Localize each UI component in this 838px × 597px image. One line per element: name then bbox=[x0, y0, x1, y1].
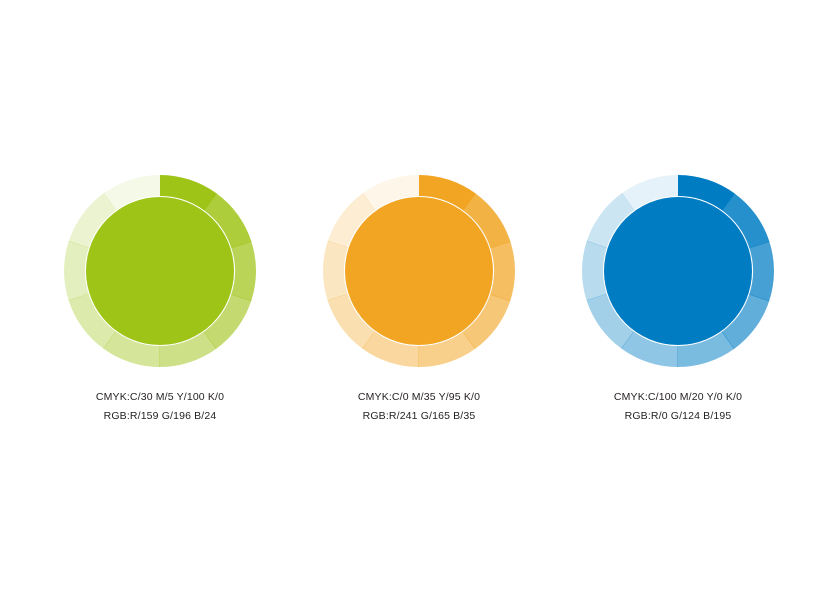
orange-rgb-value: RGB:R/241 G/165 B/35 bbox=[290, 407, 549, 426]
swatch-board: CMYK:C/30 M/5 Y/100 K/0RGB:R/159 G/196 B… bbox=[0, 0, 838, 597]
green-caption: CMYK:C/30 M/5 Y/100 K/0RGB:R/159 G/196 B… bbox=[31, 388, 290, 426]
blue-caption: CMYK:C/100 M/20 Y/0 K/0RGB:R/0 G/124 B/1… bbox=[549, 388, 808, 426]
orange-cmyk-value: CMYK:C/0 M/35 Y/95 K/0 bbox=[290, 388, 549, 407]
orange-caption: CMYK:C/0 M/35 Y/95 K/0RGB:R/241 G/165 B/… bbox=[290, 388, 549, 426]
orange-swatch: CMYK:C/0 M/35 Y/95 K/0RGB:R/241 G/165 B/… bbox=[290, 0, 549, 597]
blue-rgb-value: RGB:R/0 G/124 B/195 bbox=[549, 407, 808, 426]
blue-solid-core bbox=[604, 197, 752, 345]
blue-swatch: CMYK:C/100 M/20 Y/0 K/0RGB:R/0 G/124 B/1… bbox=[549, 0, 808, 597]
orange-ring-segment-3 bbox=[490, 241, 515, 301]
green-cmyk-value: CMYK:C/30 M/5 Y/100 K/0 bbox=[31, 388, 290, 407]
orange-solid-core bbox=[345, 197, 493, 345]
blue-ring-segment-3 bbox=[749, 241, 774, 301]
blue-color-wheel bbox=[582, 175, 774, 367]
green-swatch: CMYK:C/30 M/5 Y/100 K/0RGB:R/159 G/196 B… bbox=[31, 0, 290, 597]
blue-ring-segment-8 bbox=[582, 241, 607, 301]
green-wheel-graphic bbox=[64, 175, 256, 367]
orange-color-wheel bbox=[323, 175, 515, 367]
green-solid-core bbox=[86, 197, 234, 345]
orange-ring-segment-8 bbox=[323, 241, 348, 301]
blue-cmyk-value: CMYK:C/100 M/20 Y/0 K/0 bbox=[549, 388, 808, 407]
green-ring-segment-3 bbox=[231, 241, 256, 301]
green-rgb-value: RGB:R/159 G/196 B/24 bbox=[31, 407, 290, 426]
green-ring-segment-8 bbox=[64, 241, 89, 301]
blue-wheel-graphic bbox=[582, 175, 774, 367]
orange-wheel-graphic bbox=[323, 175, 515, 367]
green-color-wheel bbox=[64, 175, 256, 367]
